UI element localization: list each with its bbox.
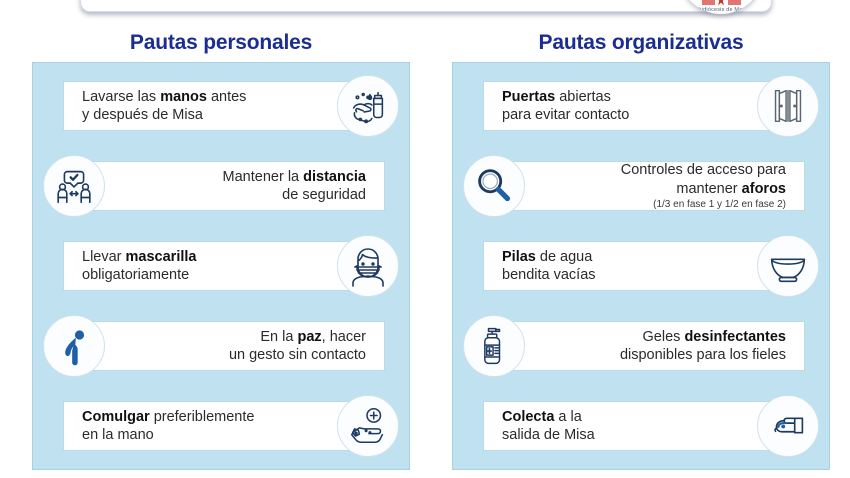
panel-organizativas: Puertas abiertaspara evitar contacto Con… [452,62,830,470]
card-text-line: bendita vacías [502,266,740,285]
card-text-line: obligatoriamente [82,266,320,285]
magnifier-icon [463,155,525,217]
column-pautas-personales: Pautas personales Lavarse las manos ante… [32,32,410,470]
card-subtext: (1/3 en fase 1 y 1/2 en fase 2) [548,199,786,211]
card-text-line: Mantener la distancia [128,168,366,187]
communion-hand-icon [337,395,399,457]
column-title-personales: Pautas personales [32,32,410,54]
guideline-card[interactable]: Pilas de aguabendita vacías [461,235,821,297]
guideline-card[interactable]: Lavarse las manos antesy después de Misa [41,75,401,137]
card-body: Comulgar preferiblementeen la mano [63,401,367,451]
card-text-line: Lavarse las manos antes [82,88,320,107]
card-text-line: En la paz, hacer [128,328,366,347]
card-body: Lavarse las manos antesy después de Misa [63,81,367,131]
card-body: Puertas abiertaspara evitar contacto [483,81,787,131]
handwashing-icon [337,75,399,137]
face-mask-icon [337,235,399,297]
card-body: Controles de acceso paramantener aforos(… [501,161,805,211]
card-body: Llevar mascarillaobligatoriamente [63,241,367,291]
card-body: En la paz, hacerun gesto sin contacto [81,321,385,371]
guideline-card[interactable]: En la paz, hacerun gesto sin contacto [41,315,401,377]
card-text-line: Controles de acceso para [548,161,786,180]
guideline-card[interactable]: Geles desinfectantesdisponibles para los… [461,315,821,377]
card-text-line: disponibles para los fieles [548,346,786,365]
card-text-line: mantener aforos [548,180,786,199]
card-text-line: Comulgar preferiblemente [82,408,320,427]
card-text-line: en la mano [82,426,320,445]
logo-caption: Archidiócesis de Madrid [690,6,753,12]
guideline-card[interactable]: Comulgar preferiblementeen la mano [41,395,401,457]
card-body: Colecta a lasalida de Misa [483,401,787,451]
column-pautas-organizativas: Pautas organizativas Puertas abiertaspar… [452,32,830,470]
top-banner [80,0,772,12]
card-body: Geles desinfectantesdisponibles para los… [501,321,805,371]
bowing-person-icon [43,315,105,377]
card-text-line: Colecta a la [502,408,740,427]
card-text-line: un gesto sin contacto [128,346,366,365]
card-text-line: de seguridad [128,186,366,205]
card-text-line: Llevar mascarilla [82,248,320,267]
guideline-card[interactable]: Mantener la distanciade seguridad [41,155,401,217]
card-text-line: para evitar contacto [502,106,740,125]
card-text-line: Puertas abiertas [502,88,740,107]
guideline-card[interactable]: Controles de acceso paramantener aforos(… [461,155,821,217]
card-body: Pilas de aguabendita vacías [483,241,787,291]
social-distance-icon [43,155,105,217]
card-body: Mantener la distanciade seguridad [81,161,385,211]
column-title-organizativas: Pautas organizativas [452,32,830,54]
panel-personales: Lavarse las manos antesy después de Misa… [32,62,410,470]
water-bowl-icon [757,235,819,297]
guideline-card[interactable]: Llevar mascarillaobligatoriamente [41,235,401,297]
card-text-line: Pilas de agua [502,248,740,267]
guideline-card[interactable]: Puertas abiertaspara evitar contacto [461,75,821,137]
card-text-line: salida de Misa [502,426,740,445]
donation-hand-icon [757,395,819,457]
card-text-line: Geles desinfectantes [548,328,786,347]
guideline-card[interactable]: Colecta a lasalida de Misa [461,395,821,457]
card-text-line: y después de Misa [82,106,320,125]
open-doors-icon [757,75,819,137]
sanitizer-bottle-icon [463,315,525,377]
